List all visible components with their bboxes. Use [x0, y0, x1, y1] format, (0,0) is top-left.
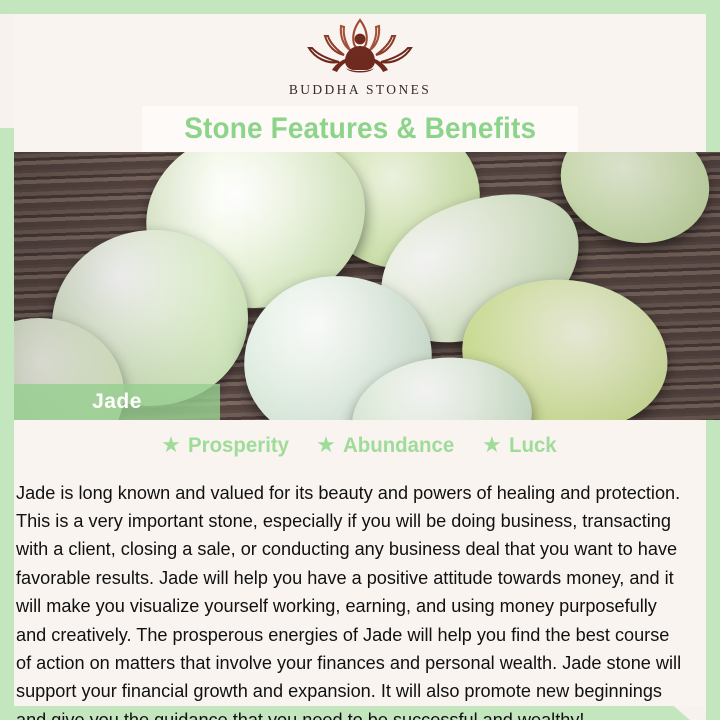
title-banner: Stone Features & Benefits [142, 106, 578, 152]
benefits-row: ★ Prosperity ★ Abundance ★ Luck [14, 428, 706, 462]
stone-name-band: Jade [14, 384, 220, 420]
lotus-meditation-logo-icon [301, 14, 419, 80]
brand-name: BUDDHA STONES [289, 82, 431, 98]
frame-band-left [0, 128, 14, 720]
star-icon: ★ [482, 434, 502, 456]
stone-name-label: Jade [92, 390, 142, 414]
page-title: Stone Features & Benefits [184, 112, 536, 146]
benefit-item-luck: ★ Luck [482, 433, 559, 458]
brand-header: BUDDHA STONES [0, 14, 720, 106]
stone-description: Jade is long known and valued for its be… [16, 479, 683, 720]
star-icon: ★ [316, 434, 336, 456]
benefit-item-prosperity: ★ Prosperity [161, 433, 294, 458]
benefit-item-abundance: ★ Abundance [316, 433, 460, 458]
stone-benefits-infographic: BUDDHA STONES Stone Features & Benefits … [0, 0, 720, 720]
benefit-label: Prosperity [188, 433, 289, 458]
benefit-label: Abundance [343, 433, 454, 458]
star-icon: ★ [161, 434, 181, 456]
benefit-label: Luck [509, 433, 557, 458]
jade-stones-photo [0, 152, 720, 420]
frame-band-top [0, 0, 720, 14]
